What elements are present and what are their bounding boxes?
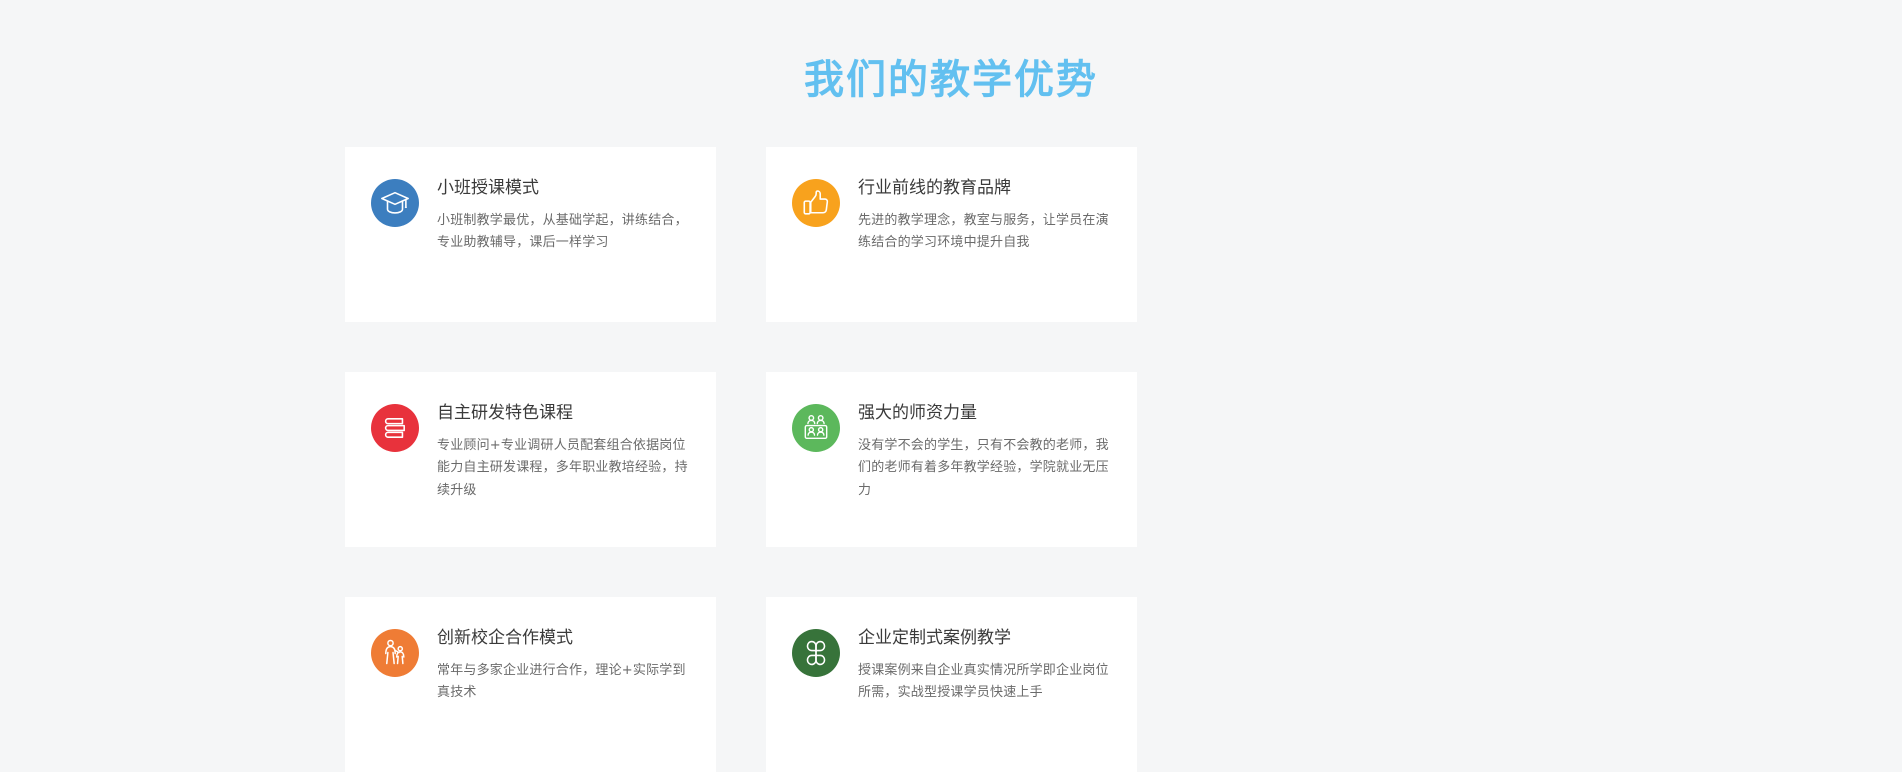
advantage-card-description: 没有学不会的学生，只有不会教的老师，我们的老师有着多年教学经验，学院就业无压力 <box>858 435 1111 502</box>
advantage-card-title: 行业前线的教育品牌 <box>858 177 1111 199</box>
advantage-card-body: 小班授课模式 小班制教学最优，从基础学起，讲练结合，专业助教辅导，课后一样学习 <box>437 175 690 255</box>
clover-icon <box>792 629 840 677</box>
advantage-card-description: 授课案例来自企业真实情况所学即企业岗位所需，实战型授课学员快速上手 <box>858 660 1111 705</box>
stacked-books-icon <box>371 404 419 452</box>
advantage-card-body: 自主研发特色课程 专业顾问+专业调研人员配套组合依据岗位能力自主研发课程，多年职… <box>437 400 690 502</box>
advantage-card-title: 自主研发特色课程 <box>437 402 690 424</box>
page-title: 我们的教学优势 <box>0 0 1902 104</box>
advantage-card[interactable]: 强大的师资力量 没有学不会的学生，只有不会教的老师，我们的老师有着多年教学经验，… <box>766 372 1137 547</box>
graduation-cap-icon <box>371 179 419 227</box>
advantage-card[interactable]: 自主研发特色课程 专业顾问+专业调研人员配套组合依据岗位能力自主研发课程，多年职… <box>345 372 716 547</box>
advantage-card[interactable]: 企业定制式案例教学 授课案例来自企业真实情况所学即企业岗位所需，实战型授课学员快… <box>766 597 1137 772</box>
advantage-card-title: 创新校企合作模式 <box>437 627 690 649</box>
advantages-section: 我们的教学优势 小班授课模式 小班制教学最优，从基础学起，讲练结合，专业助教辅导… <box>0 0 1902 600</box>
advantage-card-description: 小班制教学最优，从基础学起，讲练结合，专业助教辅导，课后一样学习 <box>437 210 690 255</box>
advantage-card[interactable]: 小班授课模式 小班制教学最优，从基础学起，讲练结合，专业助教辅导，课后一样学习 <box>345 147 716 322</box>
parent-child-icon <box>371 629 419 677</box>
advantage-card-description: 专业顾问+专业调研人员配套组合依据岗位能力自主研发课程，多年职业教培经验，持续升… <box>437 435 690 502</box>
advantage-card-title: 小班授课模式 <box>437 177 690 199</box>
advantage-card-title: 企业定制式案例教学 <box>858 627 1111 649</box>
people-group-icon <box>792 404 840 452</box>
thumbs-up-icon <box>792 179 840 227</box>
advantage-card-grid: 小班授课模式 小班制教学最优，从基础学起，讲练结合，专业助教辅导，课后一样学习 … <box>345 147 1557 772</box>
advantage-card-body: 企业定制式案例教学 授课案例来自企业真实情况所学即企业岗位所需，实战型授课学员快… <box>858 625 1111 705</box>
advantage-card-description: 先进的教学理念，教室与服务，让学员在演练结合的学习环境中提升自我 <box>858 210 1111 255</box>
advantage-card-body: 创新校企合作模式 常年与多家企业进行合作，理论+实际学到真技术 <box>437 625 690 705</box>
advantage-card-title: 强大的师资力量 <box>858 402 1111 424</box>
advantage-card-description: 常年与多家企业进行合作，理论+实际学到真技术 <box>437 660 690 705</box>
advantage-card[interactable]: 行业前线的教育品牌 先进的教学理念，教室与服务，让学员在演练结合的学习环境中提升… <box>766 147 1137 322</box>
advantage-card-body: 强大的师资力量 没有学不会的学生，只有不会教的老师，我们的老师有着多年教学经验，… <box>858 400 1111 502</box>
advantage-card-body: 行业前线的教育品牌 先进的教学理念，教室与服务，让学员在演练结合的学习环境中提升… <box>858 175 1111 255</box>
advantage-card[interactable]: 创新校企合作模式 常年与多家企业进行合作，理论+实际学到真技术 <box>345 597 716 772</box>
